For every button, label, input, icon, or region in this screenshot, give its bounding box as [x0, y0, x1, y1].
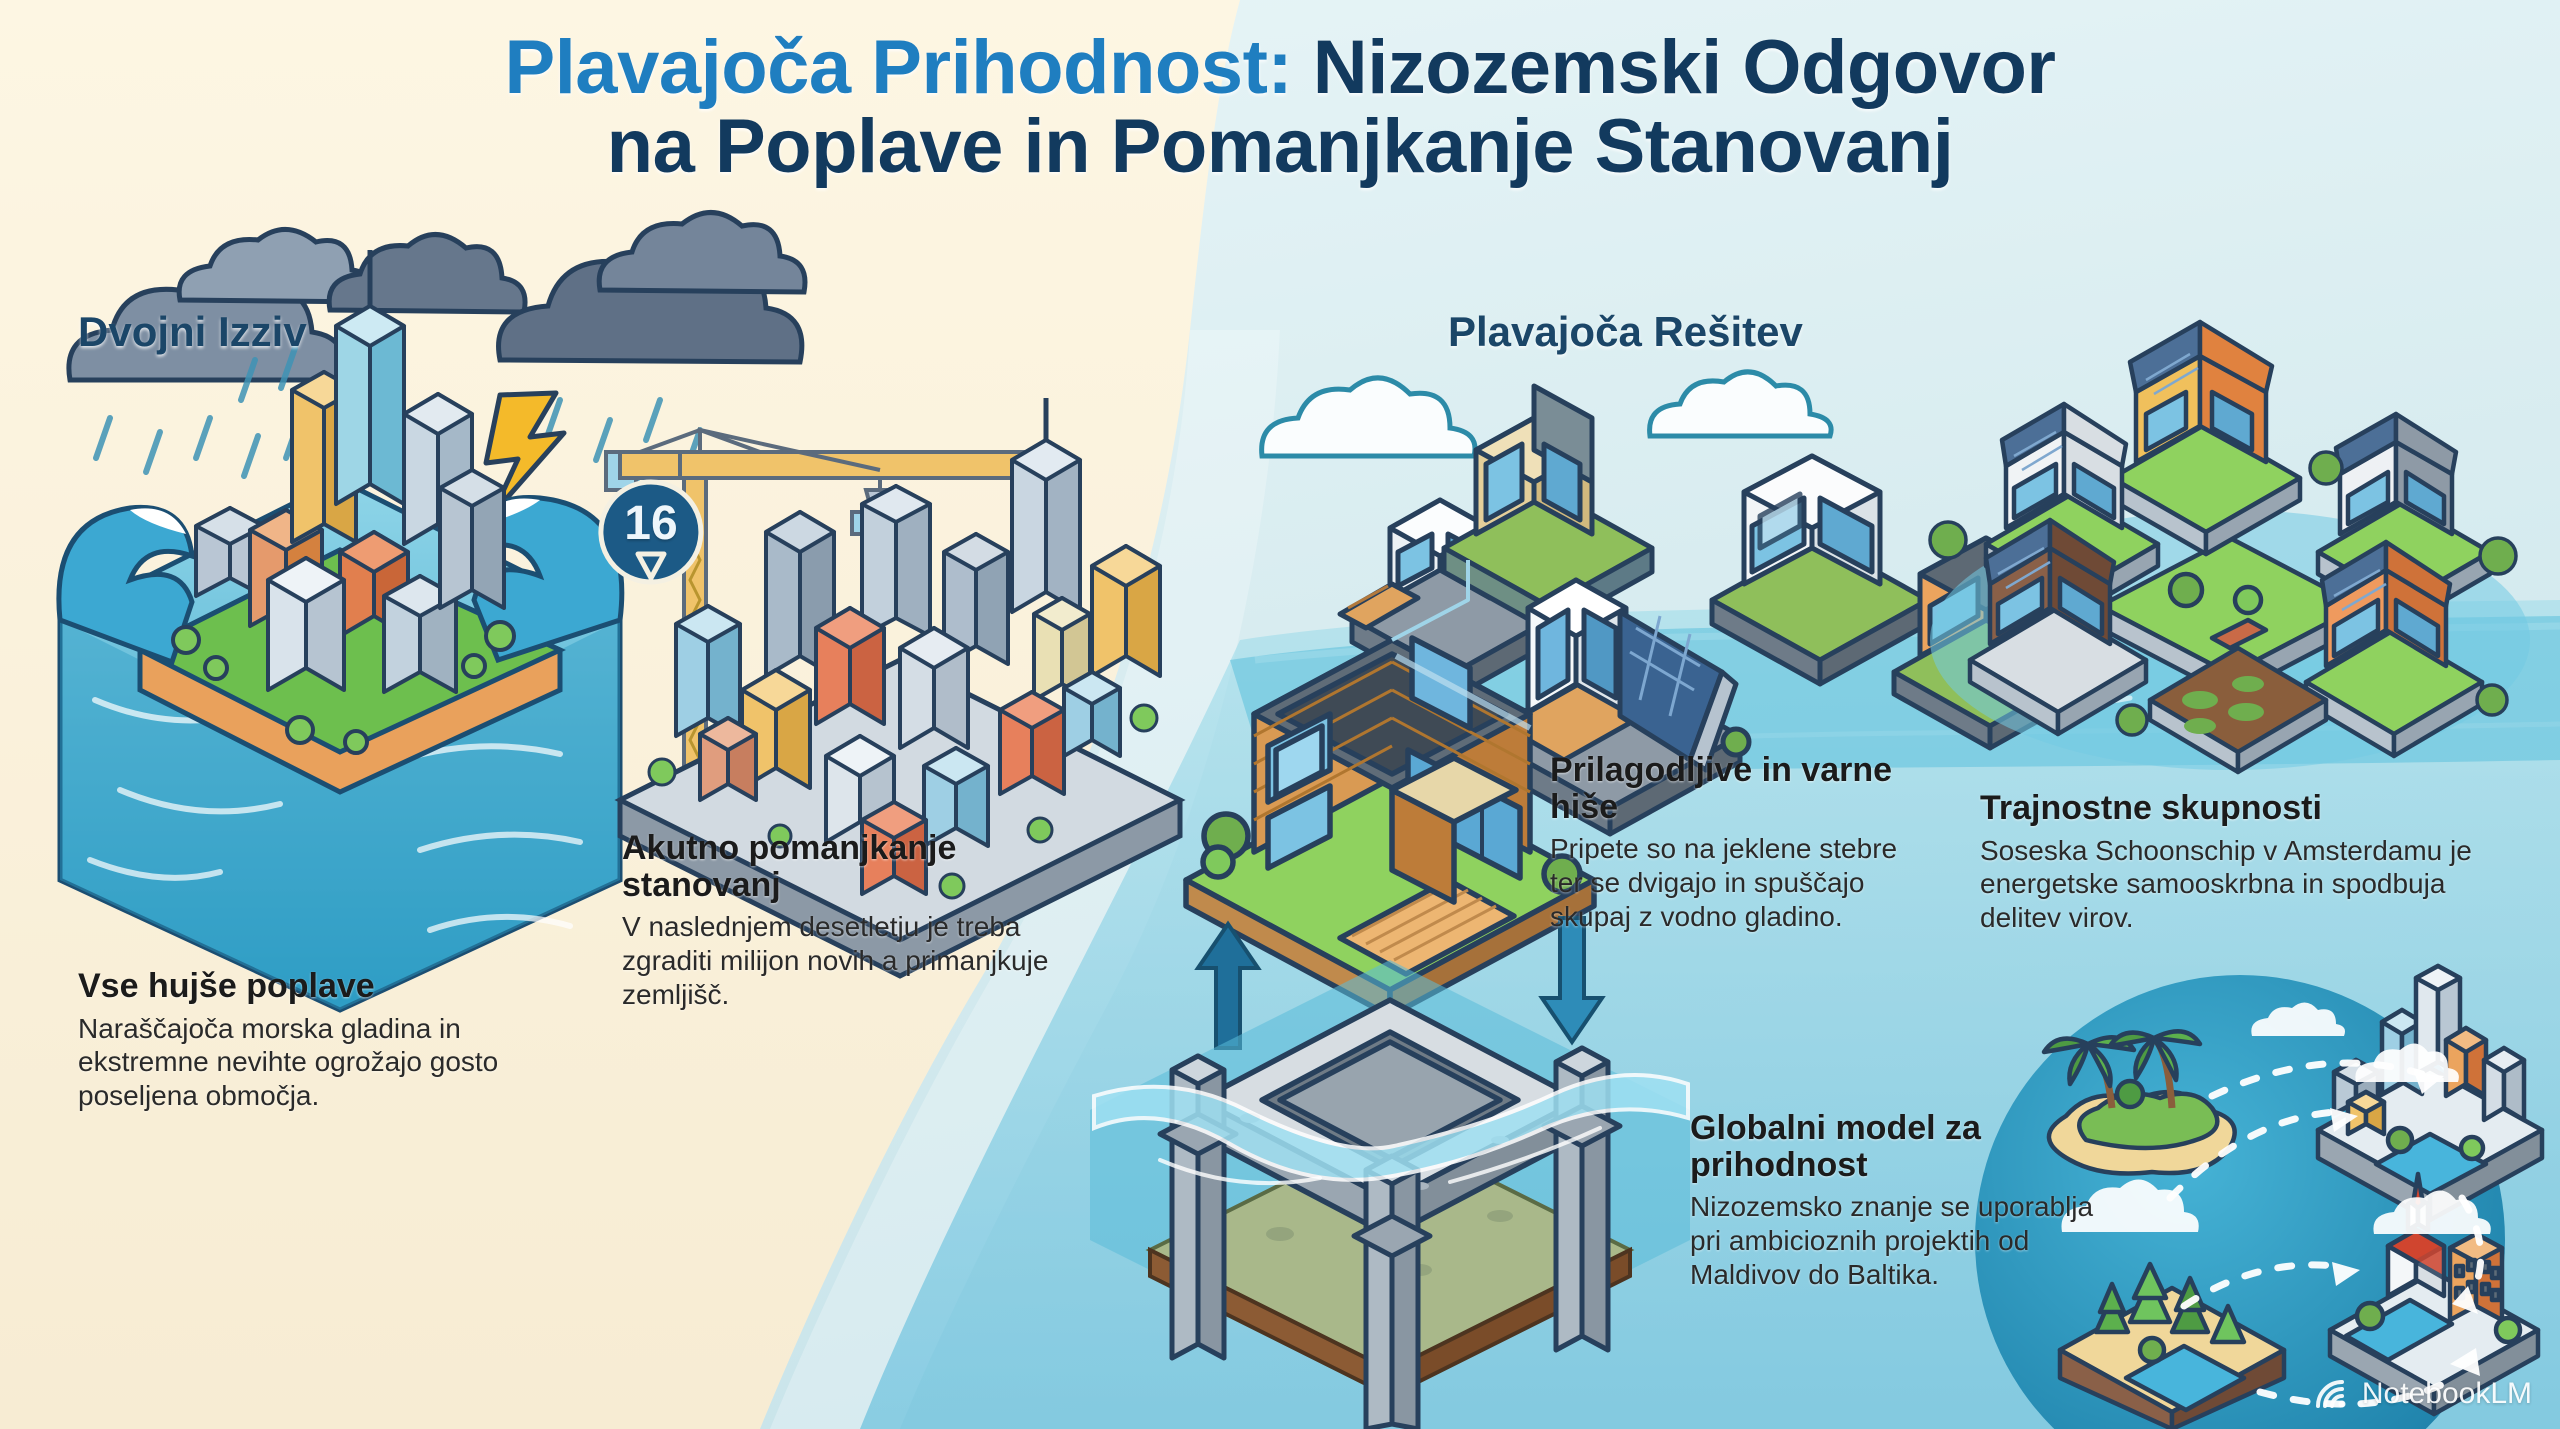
illustration-schoonschip [1930, 322, 2530, 772]
illustration-stage [0, 0, 2560, 1429]
down-arrow-icon [1542, 918, 1602, 1042]
illustration-global-network [1975, 966, 2542, 1429]
illustration-construction-city [606, 398, 1180, 976]
